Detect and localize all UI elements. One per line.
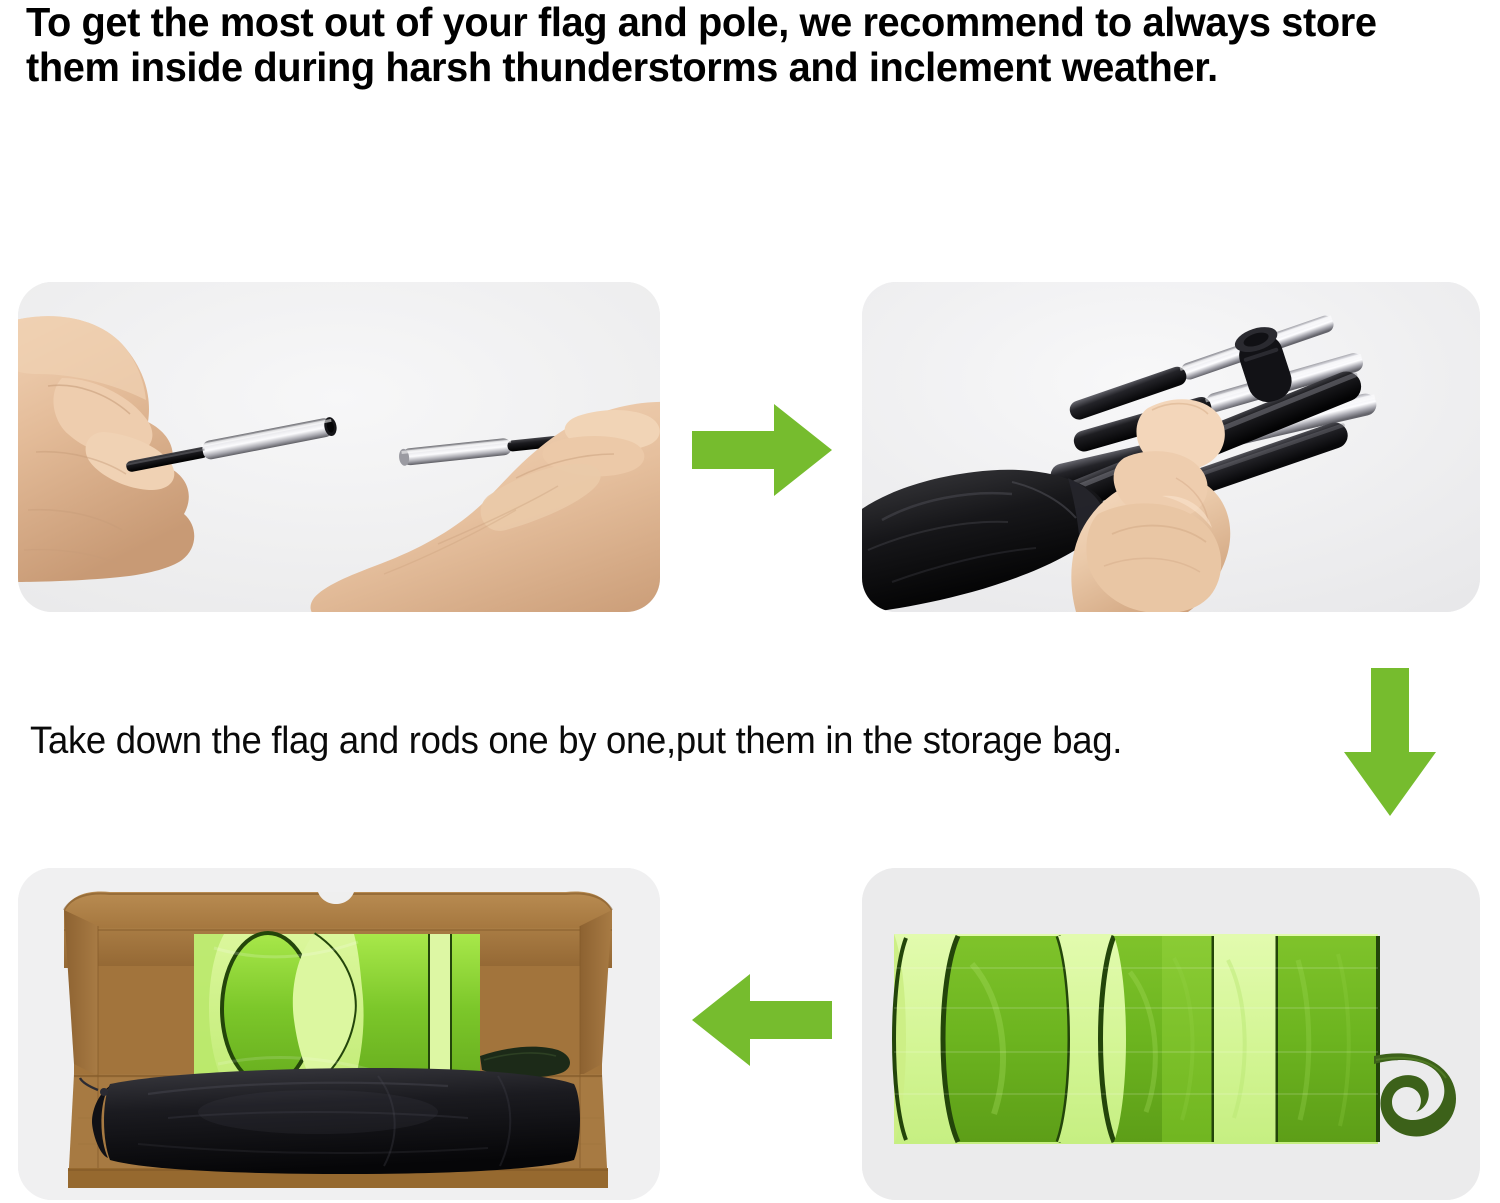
photo-panel-separate-poles — [18, 282, 660, 612]
folded-flag-closeup — [894, 934, 1378, 1144]
photo-panel-folded-flag — [862, 868, 1480, 1200]
photo-panel-packed-box — [18, 868, 660, 1200]
illustration-separate-poles — [18, 282, 660, 612]
folded-flag — [194, 933, 480, 1085]
arrow-right-shape — [692, 404, 832, 496]
arrow-left-icon — [692, 968, 832, 1072]
black-pole-bag — [80, 1068, 580, 1174]
step-caption: Take down the flag and rods one by one,p… — [30, 718, 1259, 764]
arrow-down-shape — [1344, 668, 1436, 816]
illustration-packed-box — [18, 868, 660, 1200]
photo-panel-insert-poles — [862, 282, 1480, 612]
arrow-down-icon — [1338, 668, 1442, 816]
arrow-left-shape — [692, 974, 832, 1066]
page-headline: To get the most out of your flag and pol… — [26, 0, 1450, 90]
illustration-insert-poles — [862, 282, 1480, 612]
illustration-folded-flag — [862, 868, 1480, 1200]
arrow-right-icon — [692, 398, 832, 502]
